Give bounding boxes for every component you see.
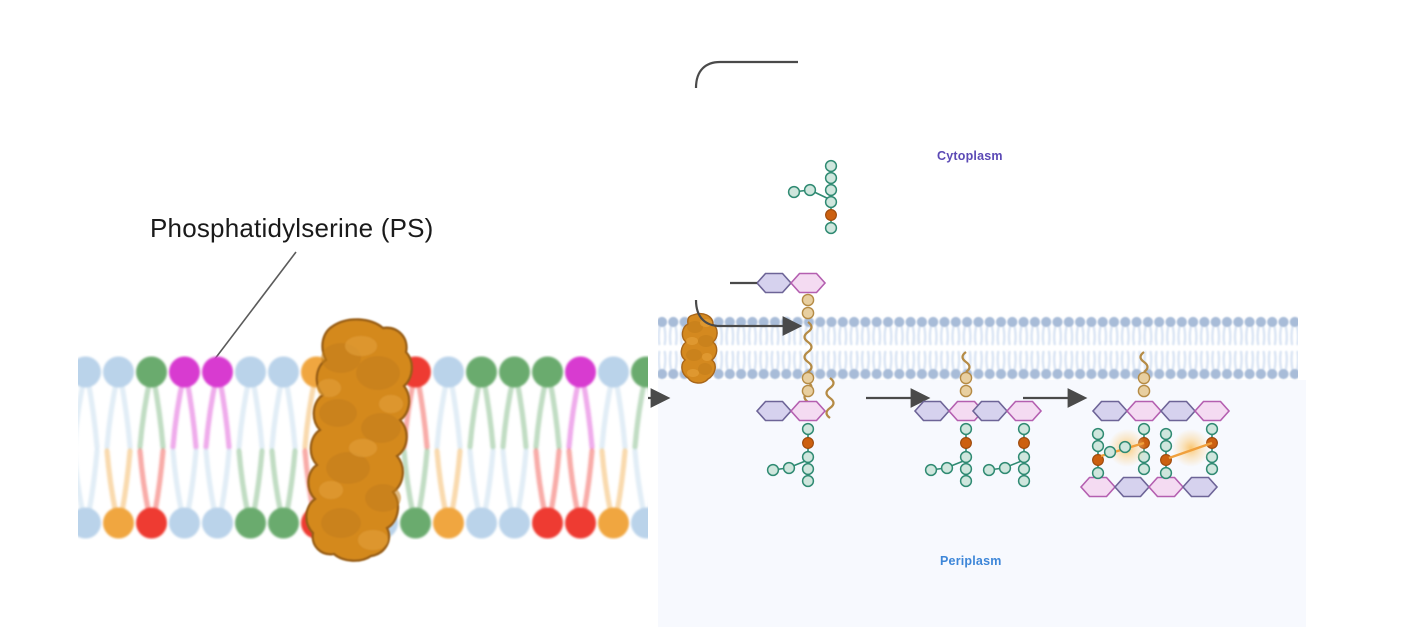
lipid-head <box>169 357 200 388</box>
lipid-head <box>631 508 648 539</box>
lipid-head <box>532 508 563 539</box>
lipid-head <box>532 357 563 388</box>
lipid-head <box>235 508 266 539</box>
lipid-head <box>433 357 464 388</box>
lipid-head <box>466 508 497 539</box>
lipid-head <box>565 357 596 388</box>
lipid-head <box>631 357 648 388</box>
lipid-head <box>78 508 101 539</box>
lipid-head <box>169 508 200 539</box>
lipid-head <box>268 508 299 539</box>
lipid-ii-periplasmic <box>757 372 825 486</box>
lipid-ii-pair <box>915 352 1041 486</box>
phospholipid-bilayer-panel: Phosphatidylserine (PS) <box>0 0 658 627</box>
page-title: Phosphatidylserine (PS) <box>150 213 434 244</box>
lipid-head <box>433 508 464 539</box>
lipid-head <box>202 508 233 539</box>
flippase-in-arrow <box>696 62 798 88</box>
lipid-head <box>598 357 629 388</box>
lipid-head <box>565 508 596 539</box>
lipid-head <box>78 357 101 388</box>
peptidoglycan-crosslinked <box>1081 352 1229 497</box>
flippase-out-arrow <box>696 300 798 326</box>
lipid-head <box>598 508 629 539</box>
lipid-head <box>202 357 233 388</box>
lipid-head <box>466 357 497 388</box>
lipid-head <box>235 357 266 388</box>
molecules-overlay <box>658 0 1306 627</box>
membrane-protein <box>303 318 418 563</box>
lipid-head <box>268 357 299 388</box>
lipid-head <box>499 508 530 539</box>
lipid-tail-membrane <box>827 378 834 418</box>
lipid-head <box>136 508 167 539</box>
lipid-head <box>499 357 530 388</box>
lipid-head <box>103 357 134 388</box>
lipid-head <box>136 357 167 388</box>
lipid-head <box>103 508 134 539</box>
